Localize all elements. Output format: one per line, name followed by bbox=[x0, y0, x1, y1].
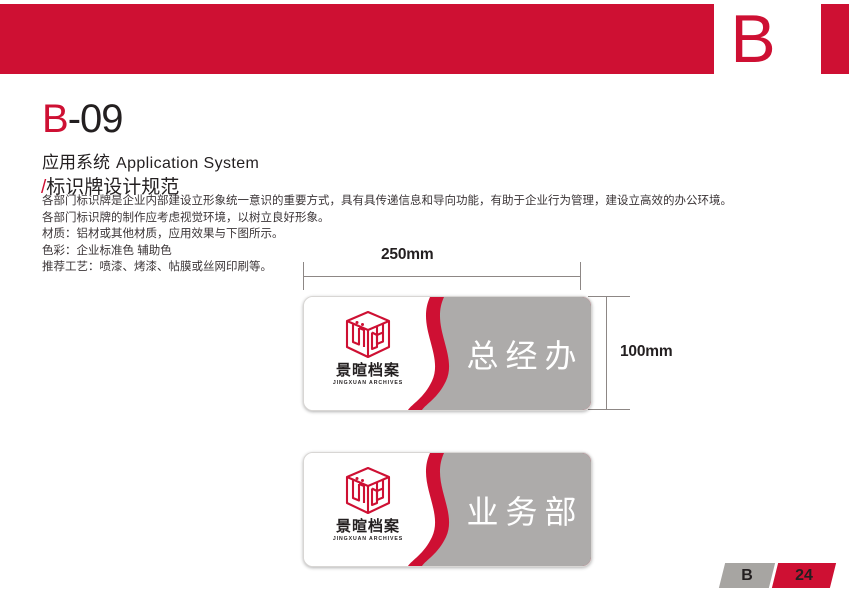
plate-2-department: 业务部 bbox=[452, 453, 591, 566]
body-line-3: 材质：铝材或其他材质，应用效果与下图所示。 bbox=[42, 227, 822, 242]
logo-name-cn: 景暄档案 bbox=[321, 362, 415, 379]
category-label-en: Application System bbox=[116, 155, 259, 172]
height-dim-tick-top bbox=[588, 296, 630, 297]
archive-cube-icon bbox=[342, 309, 394, 361]
header-red-bar bbox=[0, 4, 714, 74]
category-label-cn: 应用系统 bbox=[42, 153, 110, 172]
height-dim-tick-bottom bbox=[588, 409, 630, 410]
footer-section-label: B bbox=[722, 563, 772, 588]
body-line-2: 各部门标识牌的制作应考虑视觉环境，以树立良好形象。 bbox=[42, 211, 822, 226]
design-spec-page: B B-09 应用系统Application System /标识牌设计规范 各… bbox=[0, 0, 849, 600]
archive-cube-icon bbox=[342, 465, 394, 517]
width-dim-line bbox=[303, 276, 581, 277]
sign-plate-1: 景暄档案 JINGXUAN ARCHIVES 总经办 bbox=[303, 296, 592, 411]
body-copy: 各部门标识牌是企业内部建设立形象统一意识的重要方式，具有具传递信息和导向功能，有… bbox=[42, 194, 822, 277]
header-red-block bbox=[821, 4, 849, 74]
plate-1-department: 总经办 bbox=[452, 297, 591, 410]
width-dimension-label: 250mm bbox=[381, 246, 433, 264]
header-section-letter: B bbox=[723, 4, 783, 74]
footer-page-number: 24 bbox=[775, 563, 833, 588]
doc-code-suffix: -09 bbox=[68, 97, 123, 141]
plate-2-logo: 景暄档案 JINGXUAN ARCHIVES bbox=[321, 465, 415, 557]
sign-plate-2: 景暄档案 JINGXUAN ARCHIVES 业务部 bbox=[303, 452, 592, 567]
logo-name-en: JINGXUAN ARCHIVES bbox=[321, 379, 415, 387]
logo-name-en: JINGXUAN ARCHIVES bbox=[321, 535, 415, 543]
plate-1-logo: 景暄档案 JINGXUAN ARCHIVES bbox=[321, 309, 415, 401]
logo-name-cn: 景暄档案 bbox=[321, 518, 415, 535]
height-dimension-label: 100mm bbox=[620, 343, 672, 361]
page-title: B-09 bbox=[42, 97, 123, 142]
doc-code-prefix: B bbox=[42, 97, 68, 141]
category-subtitle: 应用系统Application System bbox=[42, 148, 259, 173]
body-line-1: 各部门标识牌是企业内部建设立形象统一意识的重要方式，具有具传递信息和导向功能，有… bbox=[42, 194, 822, 209]
height-dim-line bbox=[606, 296, 607, 410]
